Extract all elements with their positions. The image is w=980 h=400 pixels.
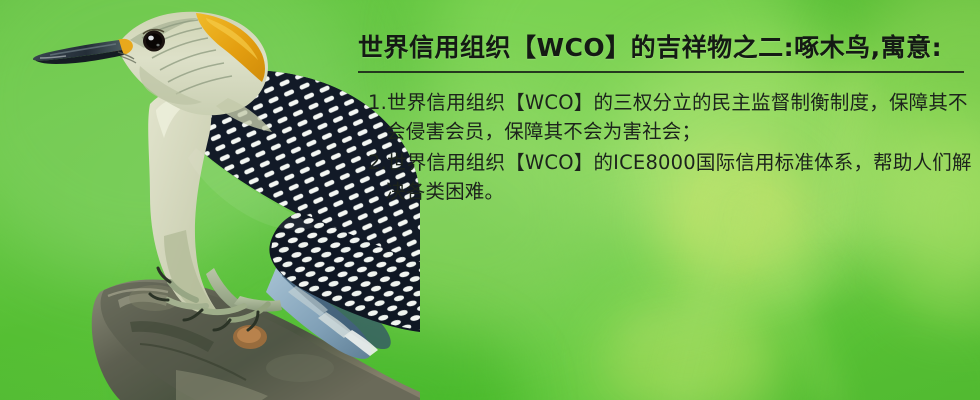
- wco-mascot-banner: 世界信用组织【WCO】的吉祥物之二:啄木鸟,寓意: 1.世界信用组织【WCO】的…: [0, 0, 980, 400]
- title-divider: [358, 71, 964, 73]
- bird-breast: [148, 86, 218, 313]
- banner-text-block: 世界信用组织【WCO】的吉祥物之二:啄木鸟,寓意: 1.世界信用组织【WCO】的…: [356, 0, 980, 400]
- page-title: 世界信用组织【WCO】的吉祥物之二:啄木鸟,寓意:: [358, 28, 942, 64]
- list-item: 1.世界信用组织【WCO】的三权分立的民主监督制衡制度，保障其不会侵害会员，保障…: [362, 88, 976, 146]
- list-item: 2.世界信用组织【WCO】的ICE8000国际信用标准体系，帮助人们解决各类困难…: [362, 148, 976, 206]
- mascot-meaning-list: 1.世界信用组织【WCO】的三权分立的民主监督制衡制度，保障其不会侵害会员，保障…: [362, 88, 976, 208]
